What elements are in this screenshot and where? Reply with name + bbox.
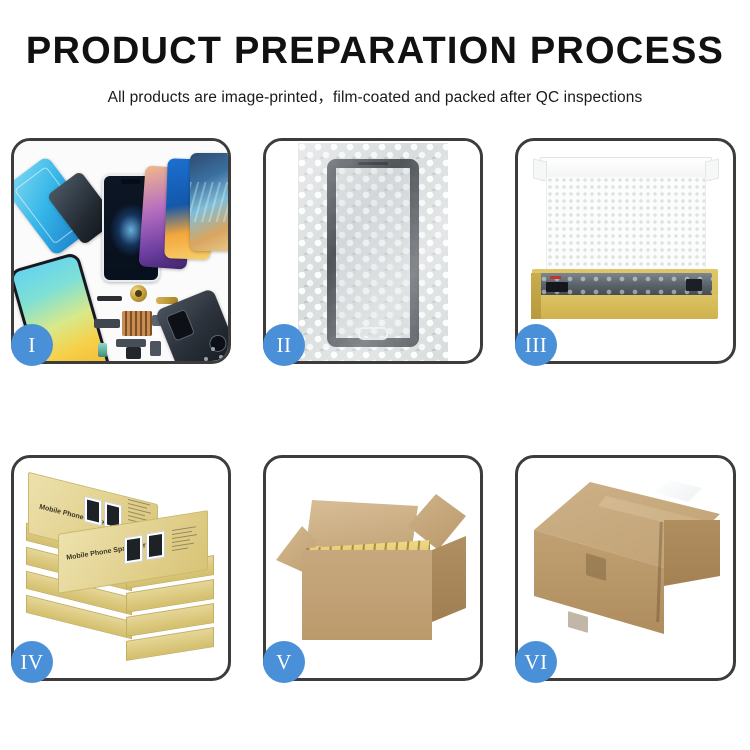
open-shipping-carton <box>280 488 466 652</box>
foam-lined-box <box>532 157 718 333</box>
bubble-wrap-sheet <box>298 143 448 361</box>
flex-cable-icon <box>94 319 120 328</box>
front-camera-icon <box>98 343 107 357</box>
step-badge-4: IV <box>11 641 53 683</box>
step-badge-6: VI <box>515 641 557 683</box>
page-title: PRODUCT PREPARATION PROCESS <box>0 0 750 72</box>
page-subtitle: All products are image-printed，film-coat… <box>0 72 750 107</box>
carton-tab-lower <box>568 611 588 633</box>
photo-assorted-parts <box>14 141 228 361</box>
step-badge-2: II <box>263 324 305 366</box>
box-front-panel <box>532 295 718 319</box>
chip-grid-icon <box>122 311 152 336</box>
product-preparation-infographic: PRODUCT PREPARATION PROCESS All products… <box>0 0 750 750</box>
battery-icon <box>150 341 161 356</box>
header: PRODUCT PREPARATION PROCESS All products… <box>0 0 750 107</box>
steps-grid: I II <box>0 138 750 698</box>
step-badge-3: III <box>515 324 557 366</box>
camera-lens-icon <box>130 285 147 302</box>
sealed-shipping-carton <box>534 482 720 660</box>
photo-open-carton <box>266 458 480 678</box>
photo-bubble-wrapped-screen <box>266 141 480 361</box>
connector-bar-icon <box>97 296 122 301</box>
plastic-wrap-icon <box>654 480 702 502</box>
step-badge-1: I <box>11 324 53 366</box>
phone-gradient-screen-icon <box>190 153 228 251</box>
foam-lining-icon <box>546 177 706 277</box>
carton-side-face <box>432 536 466 622</box>
photo-screen-in-foam-box <box>518 141 733 361</box>
retail-box-stack: Mobile Phone Spare Parts Mobile Phone Sp… <box>22 470 218 664</box>
carton-front-face <box>302 550 432 640</box>
flex-strip-icon <box>116 339 146 347</box>
box-side-panel <box>531 273 541 319</box>
photo-sealed-carton <box>518 458 733 678</box>
carton-right-face <box>664 520 720 624</box>
speaker-icon <box>126 347 141 359</box>
step-badge-5: V <box>263 641 305 683</box>
photo-stacked-retail-boxes: Mobile Phone Spare Parts Mobile Phone Sp… <box>14 458 228 678</box>
